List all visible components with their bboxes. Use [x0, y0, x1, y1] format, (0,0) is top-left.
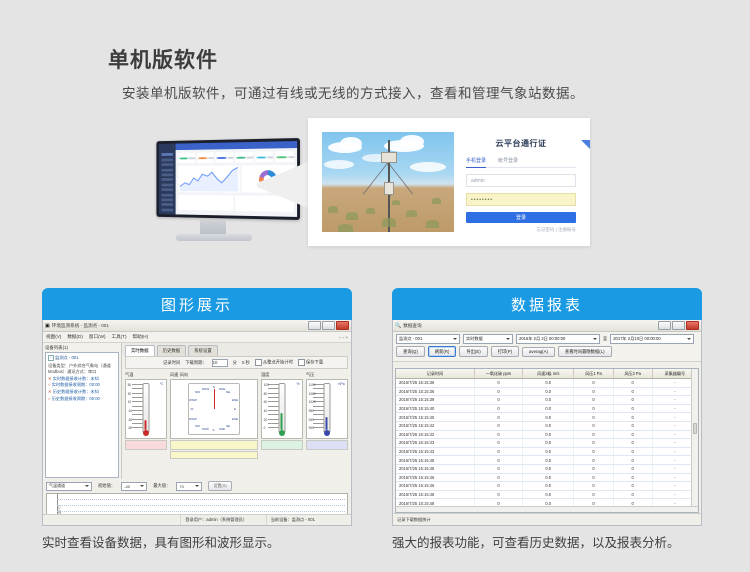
table-row[interactable]: 2016/7/25 15:15:4500.000- [396, 456, 698, 465]
table-cell: 2016/7/25 15:15:45 [396, 456, 474, 465]
waveform-channel-select[interactable]: 气温通道 [46, 482, 92, 491]
status-current-device: 当前设备：监测点 - 001 [267, 515, 351, 525]
period-unit-second: 0 秒 [242, 360, 250, 366]
login-title: 云平台通行证 [466, 138, 576, 149]
table-column-header[interactable]: 一氧化碳 ppm [474, 369, 522, 379]
menu-help[interactable]: 帮助(H) [133, 334, 149, 340]
panel-graph-title: 图形展示 [42, 288, 352, 320]
table-cell: 0 [613, 439, 652, 448]
table-cell: 0.0 [523, 413, 574, 422]
gauge-pressure: 气压 hPa 11001060 1020980 940900 [306, 372, 348, 459]
table-cell: 0.0 [523, 473, 574, 482]
graph-software-window: ▣ 环境监测系统 - 监测点 - 001 视图(V) 数据(D) 窗口(W) 工… [42, 320, 352, 526]
table-cell: 0 [613, 430, 652, 439]
panel-data-report: 数据报表 🔍 数据查询 监测点 - 001 实时数据 [392, 288, 702, 526]
table-row[interactable]: 2016/7/25 15:15:3900.000- [396, 396, 698, 405]
table-cell: 0 [474, 439, 522, 448]
wind-compass-icon: N E S W NE SE SW NW NNE ENE [170, 379, 258, 439]
table-column-header[interactable]: 风速2级 m/s [523, 369, 574, 379]
table-cell: 2016/7/25 15:15:46 [396, 473, 474, 482]
table-cell: 2016/7/25 15:15:40 [396, 413, 474, 422]
table-header-row: 记录时间一氧化碳 ppm风速2级 m/s风压1 Pa风压2 Pa采集器编号 [396, 369, 698, 379]
table-cell: 2016/7/25 15:15:42 [396, 421, 474, 430]
gauge-humidity-label: 湿度 [261, 372, 303, 378]
record-time-controls: 记录时间 下载周期： 10 分 0 秒 从整点开始计时 保存下载 [125, 356, 348, 369]
report-status-text: 记录下载数据统计 [397, 517, 431, 523]
table-row[interactable]: 2016/7/25 15:15:4800.000- [396, 490, 698, 499]
graph-statusbar: 登录用户：admin（系统管理员） 当前设备：监测点 - 001 [43, 514, 351, 525]
panel-report-title: 数据报表 [392, 288, 702, 320]
table-row[interactable]: 2016/7/25 15:15:4300.000- [396, 439, 698, 448]
vertical-scrollbar[interactable] [691, 369, 698, 512]
table-cell: 0 [574, 396, 613, 405]
table-row[interactable]: 2016/7/25 15:15:4000.000- [396, 404, 698, 413]
table-cell: 0.0 [523, 404, 574, 413]
device-tree[interactable]: − 监测点 - 001 设备类型：户外综合气象站（通道 Modbus）通讯方式：… [45, 352, 119, 478]
table-cell: 0 [574, 456, 613, 465]
table-cell: 0.0 [523, 387, 574, 396]
horizontal-scrollbar[interactable] [396, 506, 698, 512]
table-row[interactable]: 2016/7/25 15:15:4300.000- [396, 447, 698, 456]
table-cell: 0 [613, 464, 652, 473]
maximize-button[interactable] [672, 321, 685, 330]
average-button[interactable]: averag(A) [522, 347, 555, 357]
gauge-wind-label: 风速·风向 [170, 372, 258, 378]
table-cell: 0 [474, 490, 522, 499]
table-cell: 0 [613, 387, 652, 396]
dashboard-line-chart [178, 165, 240, 192]
report-software-window: 🔍 数据查询 监测点 - 001 实时数据 201 [392, 320, 702, 526]
data-tabs: 实时数据 历史数据 系统设置 [122, 343, 351, 356]
maximize-button[interactable] [322, 321, 335, 330]
table-cell: 2016/7/25 15:15:42 [396, 430, 474, 439]
mdi-window-buttons[interactable]: – ▫ × [339, 335, 348, 340]
table-cell: 0 [574, 439, 613, 448]
table-cell: 2016/7/25 15:15:48 [396, 490, 474, 499]
table-cell: 0 [474, 447, 522, 456]
table-cell: 0 [613, 413, 652, 422]
graph-menubar: 视图(V) 数据(D) 窗口(W) 工具(T) 帮助(H) – ▫ × [43, 332, 351, 343]
search-icon: 🔍 [395, 323, 401, 329]
weather-station-photo [322, 132, 454, 232]
tab-history-data[interactable]: 历史数据 [157, 345, 187, 356]
table-cell: 2016/7/25 15:15:40 [396, 404, 474, 413]
date-from-field[interactable]: 2016年 2月 2日 00:00:00 [516, 334, 600, 344]
gauge-temperature-label: 气温 [125, 372, 167, 378]
report-table-wrap[interactable]: 记录时间一氧化碳 ppm风速2级 m/s风压1 Pa风压2 Pa采集器编号 20… [395, 368, 699, 513]
menu-window[interactable]: 窗口(W) [89, 334, 106, 340]
gauge-pressure-label: 气压 [306, 372, 348, 378]
table-cell: 0 [613, 396, 652, 405]
page-root: 单机版软件 安装单机版软件，可通过有线或无线的方式接入，查看和管理气象站数据。 [0, 0, 750, 572]
table-cell: 2016/7/25 15:15:36 [396, 387, 474, 396]
table-cell: 0 [613, 379, 652, 388]
table-cell: 0 [474, 473, 522, 482]
gauge-wind: 风速·风向 N E S W NE SE SW N [170, 372, 258, 459]
table-cell: 0 [574, 387, 613, 396]
gauge-wind-readout-2 [170, 451, 258, 459]
graph-window-titlebar: ▣ 环境监测系统 - 监测点 - 001 [43, 320, 351, 332]
tree-item-3[interactable]: ○ 历史数据接收周期：00:00 [48, 396, 116, 403]
report-table: 记录时间一氧化碳 ppm风速2级 m/s风压1 Pa风压2 Pa采集器编号 20… [396, 369, 698, 513]
table-cell: 0 [574, 413, 613, 422]
login-submit-button[interactable]: 登录 [466, 212, 576, 223]
panel-graph-display: 图形展示 ▣ 环境监测系统 - 监测点 - 001 视图(V) 数据(D) 窗口… [42, 288, 352, 526]
table-cell: 0 [474, 456, 522, 465]
table-cell: 0 [613, 490, 652, 499]
table-cell: 0 [474, 421, 522, 430]
tree-item-2[interactable]: ✕ 历史数据接收计数：未知 [48, 389, 116, 396]
menu-tools[interactable]: 工具(T) [111, 334, 126, 340]
login-meta-links[interactable]: 忘记密码 | 注册帐号 [466, 227, 576, 233]
page-title: 单机版软件 [108, 44, 218, 74]
table-cell: 0.0 [523, 447, 574, 456]
date-to-field[interactable]: 2017年 2月10日 00:00:00 [610, 334, 694, 344]
refresh-button[interactable]: 刷新(R) [428, 346, 457, 357]
table-row[interactable]: 2016/7/25 15:15:4500.000- [396, 464, 698, 473]
minimize-button[interactable] [658, 321, 671, 330]
table-cell: 0 [574, 404, 613, 413]
table-cell: 0.0 [523, 456, 574, 465]
corner-ribbon-icon [581, 140, 590, 149]
period-unit-minute: 分 [233, 360, 237, 366]
table-row[interactable]: 2016/7/25 15:15:4600.000- [396, 482, 698, 491]
table-cell: 2016/7/25 15:15:43 [396, 439, 474, 448]
password-field[interactable]: •••••••• [466, 193, 576, 206]
table-row[interactable]: 2016/7/25 15:15:4600.000- [396, 473, 698, 482]
device-list-header: 设备列表(1) [45, 345, 119, 351]
close-button[interactable] [686, 321, 699, 330]
waveform-max-select[interactable]: 70 [176, 482, 202, 491]
checkbox-start-on-hour[interactable]: 从整点开始计时 [255, 359, 293, 366]
table-cell: 0 [574, 482, 613, 491]
report-window-titlebar: 🔍 数据查询 [393, 320, 701, 332]
report-window-title: 数据查询 [403, 323, 658, 329]
download-period-input[interactable]: 10 [212, 359, 228, 367]
channel-select[interactable]: 实时数据 [463, 334, 513, 344]
latest-data-button[interactable]: 查看时间最晚数据(L) [558, 346, 612, 357]
table-cell: 0.0 [523, 379, 574, 388]
gauge-temperature-readout [125, 440, 167, 450]
table-cell: 0 [613, 447, 652, 456]
table-cell: 0 [613, 456, 652, 465]
tab-account-login[interactable]: 帐号登录 [498, 157, 518, 164]
table-column-header[interactable]: 风压1 Pa [574, 369, 613, 379]
table-cell: 0 [574, 473, 613, 482]
table-cell: 0.0 [523, 439, 574, 448]
table-cell: 0 [574, 430, 613, 439]
checkbox-save-download[interactable]: 保存下载 [298, 359, 323, 366]
device-tree-pane: 设备列表(1) − 监测点 - 001 设备类型：户外综合气象站（通道 Modb… [43, 343, 122, 479]
gauge-wind-readout [170, 440, 258, 450]
login-form: 云平台通行证 手机登录 帐号登录 admin •••••••• 登录 忘记密码 … [466, 132, 576, 232]
table-cell: 0.0 [523, 464, 574, 473]
graph-window-title: 环境监测系统 - 监测点 - 001 [52, 323, 308, 329]
table-column-header[interactable]: 记录时间 [396, 369, 474, 379]
table-cell: 0.0 [523, 421, 574, 430]
station-select[interactable]: 监测点 - 001 [396, 334, 460, 344]
table-cell: 0 [474, 387, 522, 396]
table-row[interactable]: 2016/7/25 15:15:4200.000- [396, 430, 698, 439]
tab-system-settings[interactable]: 系统设置 [188, 345, 218, 356]
report-toolbar: 监测点 - 001 实时数据 2016年 2月 2日 00:00:00 至 20… [393, 332, 701, 362]
caption-report: 强大的报表功能，可查看历史数据，以及报表分析。 [392, 534, 692, 552]
table-cell: 0 [574, 379, 613, 388]
table-row[interactable]: 2016/7/25 15:15:4200.000- [396, 421, 698, 430]
table-row[interactable]: 2016/7/25 15:15:4000.000- [396, 413, 698, 422]
table-row[interactable]: 2016/7/25 15:15:3600.000- [396, 387, 698, 396]
table-cell: 2016/7/25 15:15:46 [396, 482, 474, 491]
menu-data[interactable]: 数据(D) [67, 334, 83, 340]
print-button[interactable]: 打印(P) [491, 346, 519, 357]
table-cell: 2016/7/25 15:15:43 [396, 447, 474, 456]
table-column-header[interactable]: 风压2 Pa [613, 369, 652, 379]
device-info-text: 设备类型：户外综合气象站（通道 Modbus）通讯方式：串口 [48, 363, 116, 376]
waveform-controls: 气温通道 初始值： -40 最大值： 70 设置(S) [46, 481, 348, 491]
export-button[interactable]: 导出(E) [459, 346, 487, 357]
table-cell: 0 [613, 473, 652, 482]
table-body: 2016/7/25 15:15:3600.000-2016/7/25 15:15… [396, 379, 698, 514]
table-cell: 0 [574, 490, 613, 499]
minimize-button[interactable] [308, 321, 321, 330]
table-cell: 0 [574, 447, 613, 456]
table-cell: 0.0 [523, 482, 574, 491]
gauge-humidity-readout [261, 440, 303, 450]
caption-graph: 实时查看设备数据，具有图形和波形显示。 [42, 534, 342, 552]
table-cell: 0 [474, 413, 522, 422]
table-cell: 0.0 [523, 490, 574, 499]
tree-node-station[interactable]: − 监测点 - 001 [48, 355, 116, 361]
table-cell: 0 [613, 421, 652, 430]
report-statusbar: 记录下载数据统计 [393, 513, 701, 525]
table-cell: 2016/7/25 15:15:36 [396, 379, 474, 388]
gauge-humidity: 湿度 % 10080 6040 200 [261, 372, 303, 459]
table-cell: 0 [474, 430, 522, 439]
username-field[interactable]: admin [466, 174, 576, 187]
table-cell: 0 [474, 482, 522, 491]
waveform-min-label: 初始值： [98, 483, 115, 489]
table-row[interactable]: 2016/7/25 15:15:3600.000- [396, 379, 698, 388]
waveform-set-button[interactable]: 设置(S) [208, 481, 231, 491]
table-cell: 0 [474, 404, 522, 413]
table-cell: 0 [574, 464, 613, 473]
waveform-min-select[interactable]: -40 [121, 482, 147, 491]
tab-realtime-data[interactable]: 实时数据 [125, 345, 155, 356]
gauge-pressure-readout [306, 440, 348, 450]
gauge-temperature: 气温 ℃ 5030 10-10 -30-50 [125, 372, 167, 459]
cloud-login-card: 云平台通行证 手机登录 帐号登录 admin •••••••• 登录 忘记密码 … [308, 118, 590, 246]
table-cell: 0.0 [523, 430, 574, 439]
gauge-row: 气温 ℃ 5030 10-10 -30-50 [122, 369, 351, 462]
table-cell: 2016/7/25 15:15:45 [396, 464, 474, 473]
page-subtitle: 安装单机版软件，可通过有线或无线的方式接入，查看和管理气象站数据。 [122, 82, 584, 102]
table-cell: 0.0 [523, 396, 574, 405]
table-cell: 0 [574, 421, 613, 430]
record-time-label: 记录时间 [163, 360, 180, 366]
monitor-stand-base [176, 234, 252, 241]
download-period-label: 下载周期： [185, 360, 206, 366]
table-cell: 0 [613, 404, 652, 413]
close-button[interactable] [336, 321, 349, 330]
menu-view[interactable]: 视图(V) [46, 334, 61, 340]
dashboard-sidebar [159, 144, 176, 215]
table-cell: 0 [474, 379, 522, 388]
tab-mobile-login[interactable]: 手机登录 [466, 157, 486, 168]
table-cell: 0 [613, 482, 652, 491]
status-login-user: 登录用户：admin（系统管理员） [181, 515, 266, 525]
table-cell: 0 [474, 464, 522, 473]
waveform-max-label: 最大值： [153, 483, 170, 489]
login-tabs: 手机登录 帐号登录 [466, 157, 576, 168]
query-button[interactable]: 查询(Q) [396, 346, 425, 357]
table-cell: 2016/7/25 15:15:39 [396, 396, 474, 405]
table-cell: 0 [474, 396, 522, 405]
